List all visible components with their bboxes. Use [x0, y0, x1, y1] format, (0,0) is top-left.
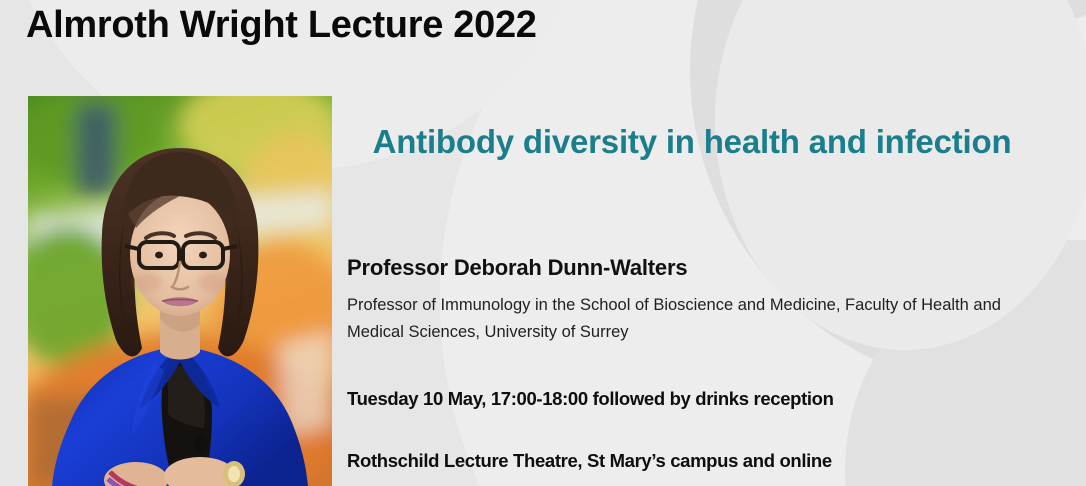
event-venue: Rothschild Lecture Theatre, St Mary’s ca… [347, 450, 832, 472]
event-poster: Almroth Wright Lecture 2022 [0, 0, 1086, 486]
speaker-photo [28, 96, 332, 486]
content-column: Antibody diversity in health and infecti… [347, 0, 1047, 486]
lecture-title: Antibody diversity in health and infecti… [347, 122, 1037, 162]
event-datetime: Tuesday 10 May, 17:00-18:00 followed by … [347, 388, 834, 410]
speaker-affiliation: Professor of Immunology in the School of… [347, 292, 1037, 345]
speaker-name: Professor Deborah Dunn-Walters [347, 255, 687, 281]
